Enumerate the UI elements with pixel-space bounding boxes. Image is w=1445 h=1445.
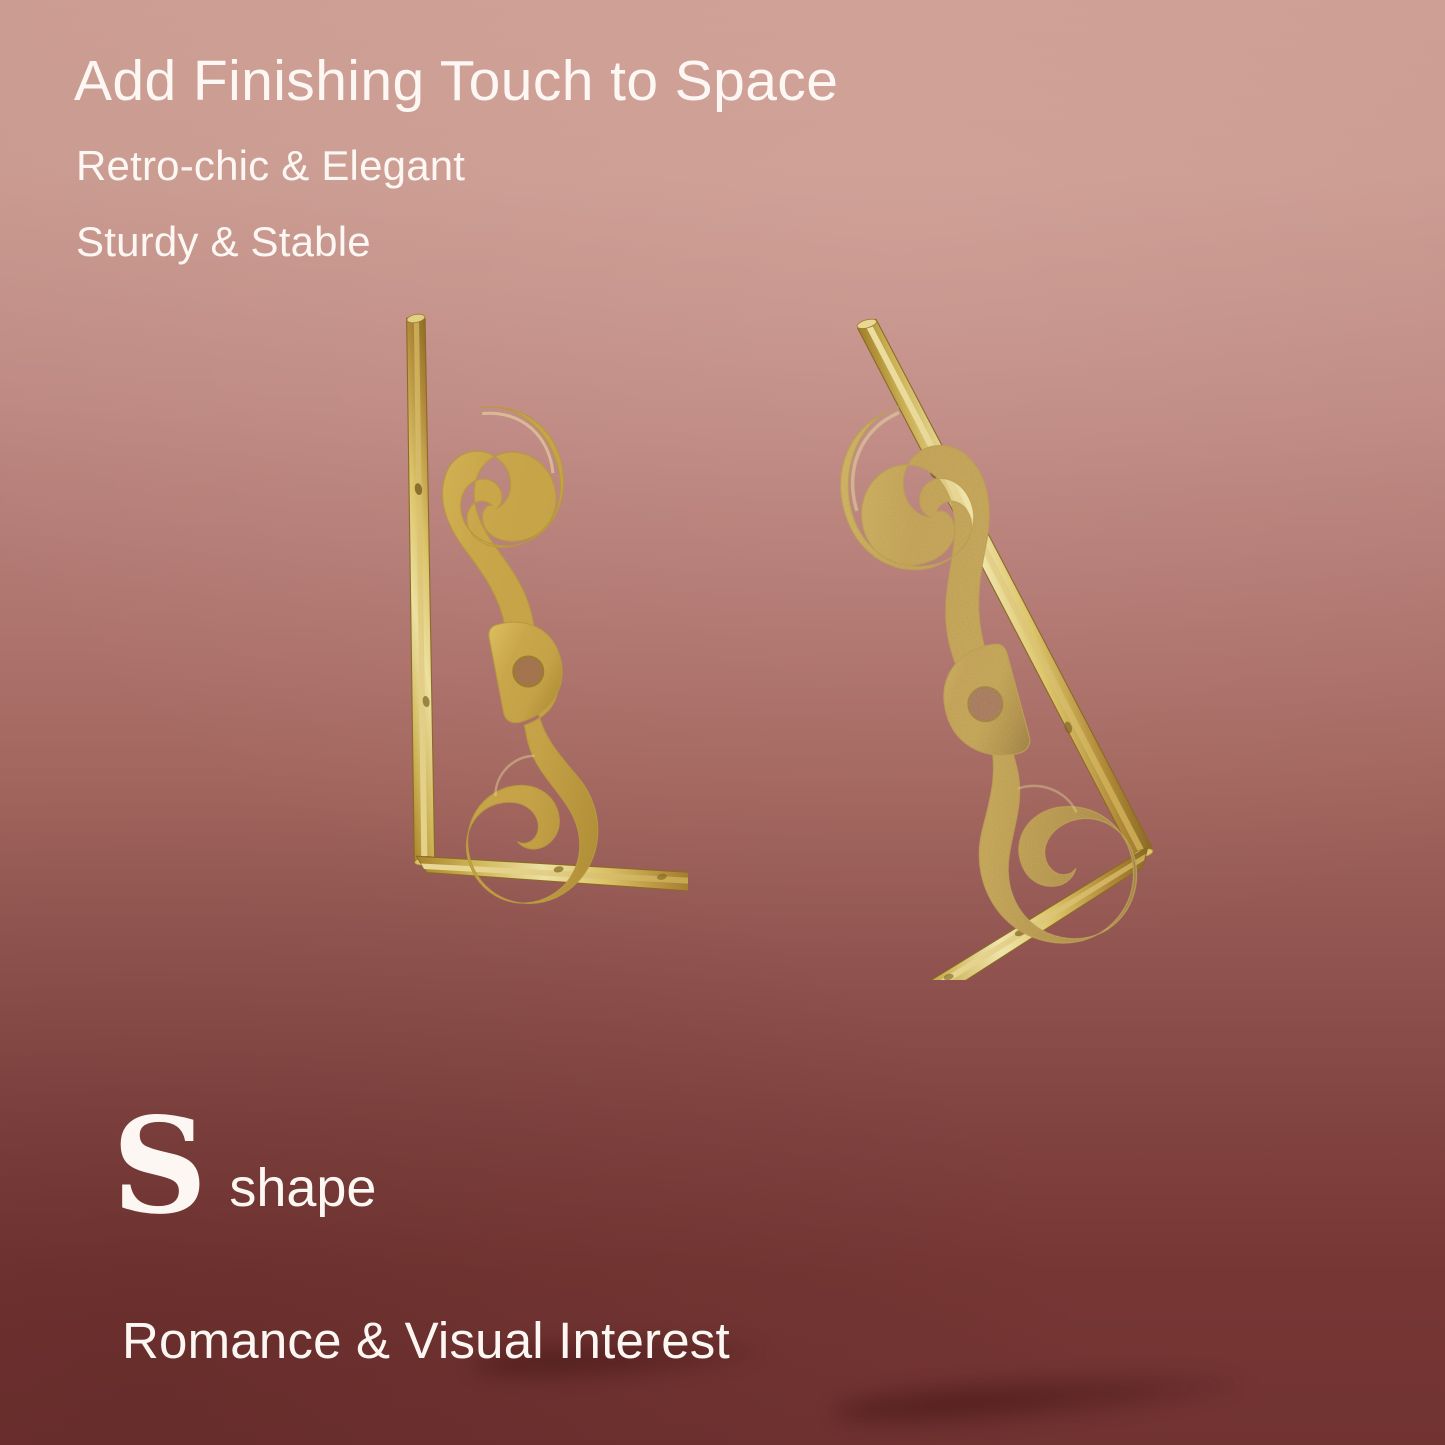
bracket-right	[768, 280, 1188, 920]
subhead-sturdy-stable: Sturdy & Stable	[76, 218, 371, 266]
bracket-right-shadow	[829, 1360, 1251, 1435]
shape-word: shape	[229, 1157, 376, 1219]
shape-label: S shape	[112, 1108, 376, 1227]
headline: Add Finishing Touch to Space	[74, 48, 838, 114]
bracket-right-graphic	[768, 280, 1228, 980]
shape-letter-s: S	[112, 1108, 207, 1227]
product-photo	[0, 280, 1445, 1160]
product-marketing-image: Add Finishing Touch to Space Retro-chic …	[0, 0, 1445, 1445]
bracket-left	[268, 292, 688, 932]
footer-caption: Romance & Visual Interest	[122, 1311, 730, 1370]
bracket-left-graphic	[268, 292, 688, 932]
subhead-retro-chic: Retro-chic & Elegant	[76, 142, 465, 190]
